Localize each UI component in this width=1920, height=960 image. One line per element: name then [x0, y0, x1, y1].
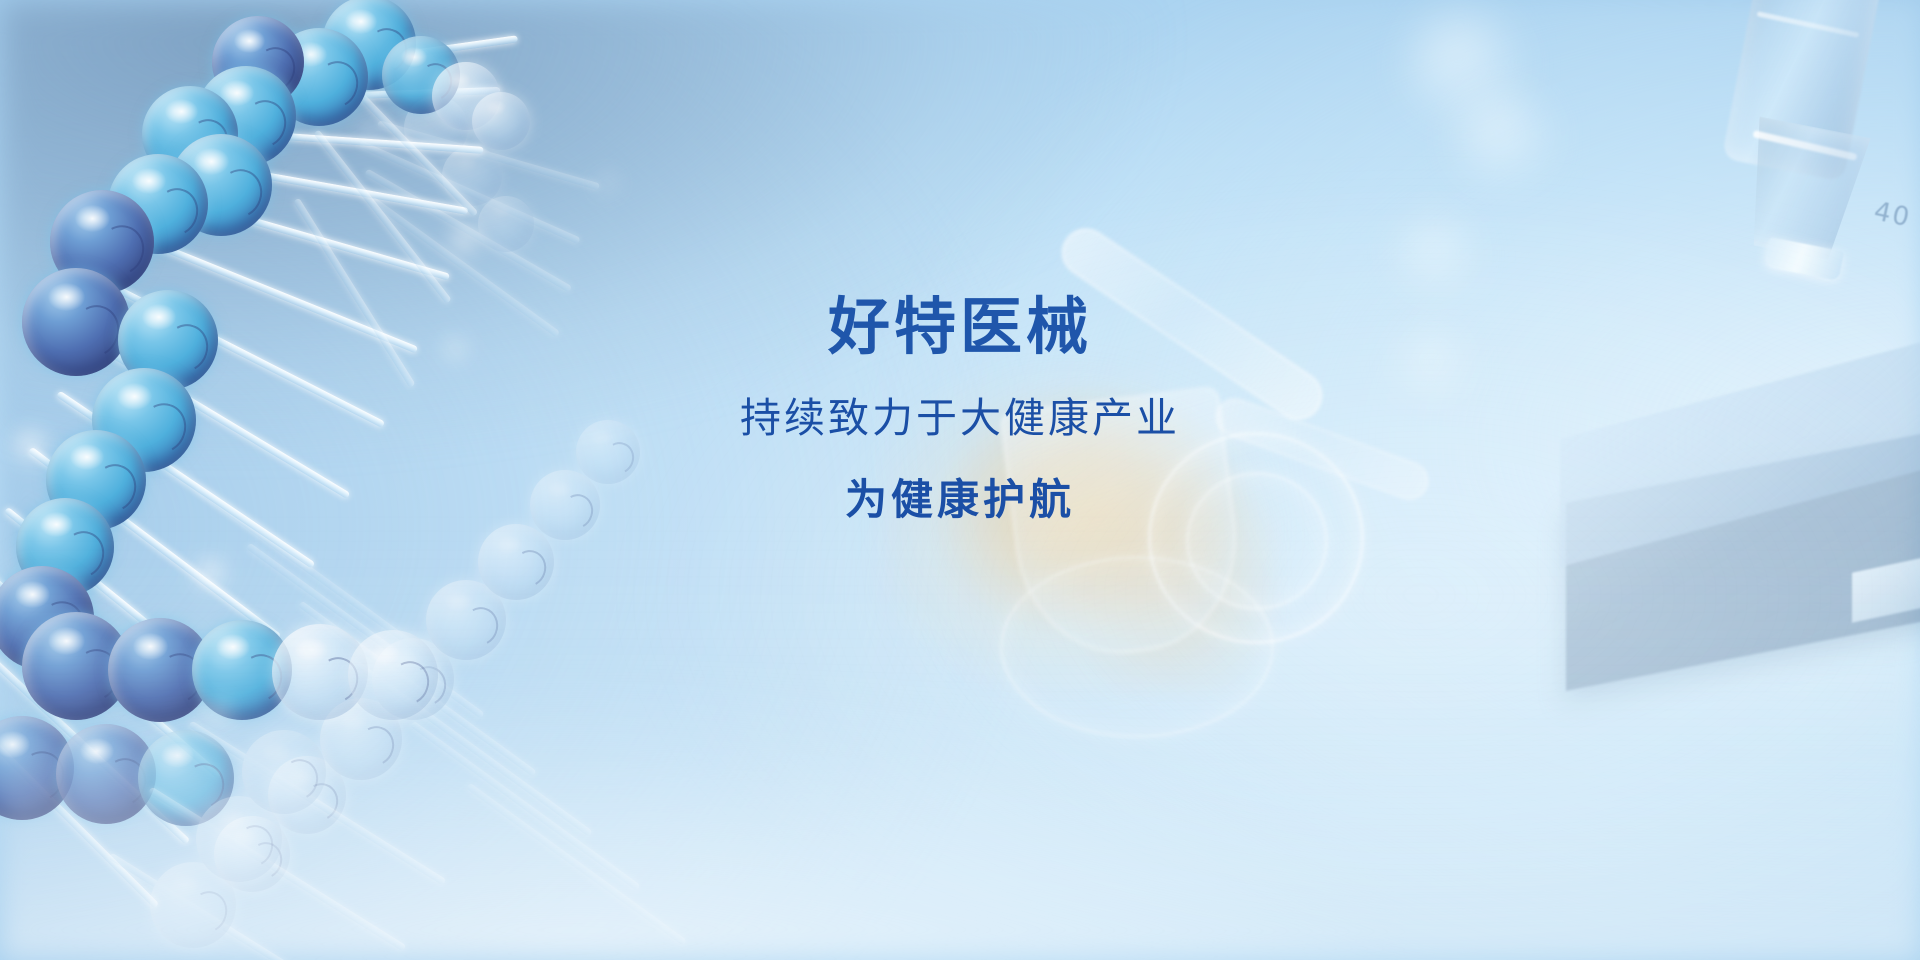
- dna-bead: [170, 134, 272, 236]
- dna-bead: [348, 630, 438, 720]
- dna-bead: [196, 796, 282, 882]
- microscope-band: [1757, 11, 1860, 38]
- microscope-objective-tip: [1764, 237, 1844, 281]
- dna-bead: [108, 154, 208, 254]
- dna-bead: [442, 146, 502, 206]
- dna-rod: [354, 661, 593, 837]
- dna-rod: [377, 120, 600, 190]
- dna-rod: [0, 631, 190, 845]
- dna-bead: [22, 612, 130, 720]
- page-title: 好特医械: [0, 296, 1920, 358]
- dna-rod: [466, 783, 687, 946]
- bokeh-light-icon: [208, 700, 232, 724]
- dna-bead: [214, 816, 290, 892]
- microscope-slide: [1852, 547, 1920, 623]
- dna-bead: [320, 698, 402, 780]
- dna-rod: [108, 853, 363, 960]
- dna-bead: [56, 724, 156, 824]
- dna-bead: [472, 92, 530, 150]
- dna-rod: [327, 61, 478, 217]
- dna-rod: [148, 787, 406, 952]
- dna-bead: [478, 196, 534, 252]
- dna-bead: [0, 566, 94, 670]
- dna-bead: [108, 618, 212, 722]
- dna-rod: [4, 507, 252, 710]
- dna-rod: [238, 87, 500, 103]
- bokeh-light-icon: [364, 124, 382, 142]
- bokeh-light-icon: [452, 228, 478, 254]
- dna-bead: [212, 16, 304, 108]
- dna-rod: [0, 693, 159, 909]
- dna-rod: [246, 543, 485, 719]
- dna-rod: [214, 128, 484, 154]
- dna-bead: [272, 624, 368, 720]
- bokeh-light-icon: [196, 560, 226, 590]
- dna-bead: [138, 730, 234, 826]
- dna-rod: [298, 601, 537, 777]
- dna-bead: [404, 96, 468, 160]
- dna-bead: [242, 730, 326, 814]
- bokeh-light-icon: [1405, 10, 1521, 126]
- dna-rod: [177, 196, 450, 280]
- dna-rod: [410, 721, 641, 891]
- dna-bead: [150, 862, 236, 948]
- dna-bead: [432, 62, 500, 130]
- dna-bead: [426, 580, 506, 660]
- microscope-magnification-label: 40: [1871, 196, 1914, 233]
- bokeh-light-icon: [1455, 92, 1551, 188]
- hero-text-block: 好特医械 持续致力于大健康产业 为健康护航: [0, 296, 1920, 521]
- dna-bead: [270, 28, 368, 126]
- dna-rod: [313, 129, 451, 304]
- microscope-band: [1753, 130, 1858, 161]
- dna-bead: [142, 86, 238, 182]
- bokeh-light-icon: [600, 176, 616, 192]
- dna-bead: [50, 190, 154, 294]
- dna-rod: [359, 140, 581, 244]
- dna-bead: [382, 36, 460, 114]
- dna-bead: [322, 0, 416, 90]
- bokeh-light-icon: [1398, 218, 1476, 296]
- dna-bead: [196, 66, 296, 166]
- hero-banner: 40: [0, 0, 1920, 960]
- dna-rod: [270, 35, 519, 77]
- dna-bead: [268, 756, 346, 834]
- dna-bead: [478, 524, 554, 600]
- dna-rod: [0, 569, 222, 779]
- dna-rod: [364, 168, 572, 292]
- dna-rod: [195, 160, 468, 215]
- dna-bead: [0, 716, 74, 820]
- microscope-objective-icon: [1722, 0, 1887, 182]
- dna-bead: [372, 638, 454, 720]
- dna-rod: [188, 721, 446, 886]
- hero-tagline: 为健康护航: [0, 479, 1920, 521]
- hero-subtitle: 持续致力于大健康产业: [0, 398, 1920, 439]
- glass-dish-rim: [1000, 556, 1274, 738]
- dna-bead: [192, 620, 292, 720]
- microscope-objective-cone: [1733, 116, 1873, 264]
